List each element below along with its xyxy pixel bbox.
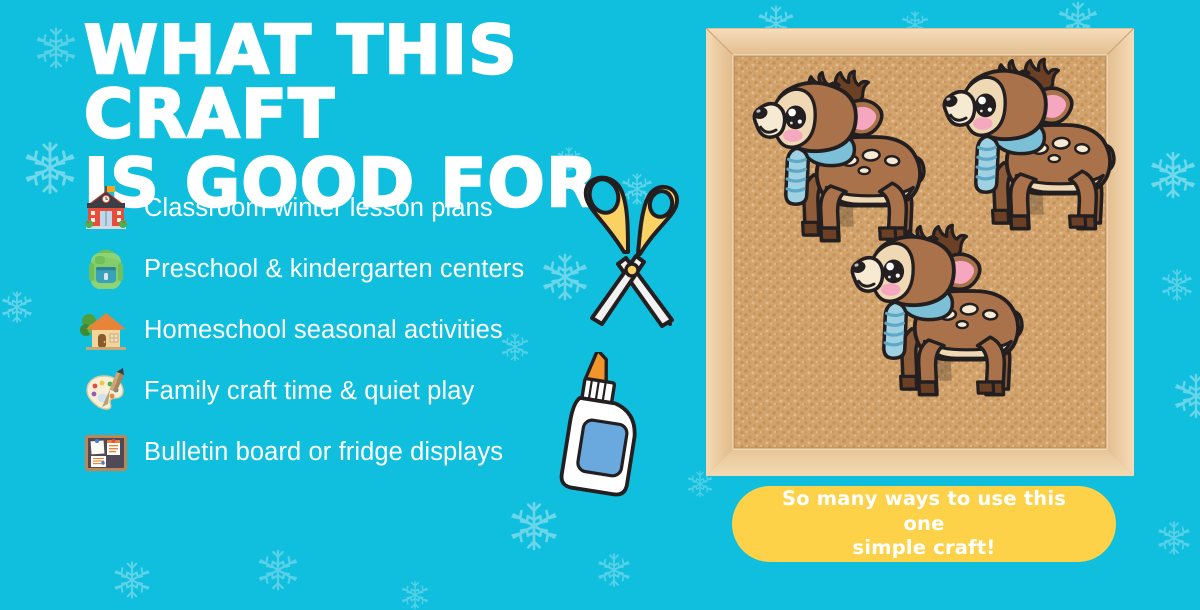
benefits-list: Classroom winter lesson plans Preschool …: [80, 182, 580, 487]
snowflake-icon: [596, 552, 632, 588]
list-item: Classroom winter lesson plans: [80, 182, 580, 234]
snowflake-icon: [0, 290, 34, 324]
bulletin-board-icon: [80, 426, 132, 478]
snowflake-icon: [112, 560, 152, 600]
snowflake-icon: [22, 140, 78, 196]
list-item-label: Family craft time & quiet play: [144, 376, 474, 406]
caption-text: So many ways to use this one simple craf…: [732, 487, 1116, 562]
page-title-line-1: WHAT THIS CRAFT: [84, 18, 724, 147]
scissors-icon: [566, 166, 698, 331]
poster-canvas: WHAT THIS CRAFT IS GOOD FOR: [0, 0, 1200, 600]
house-with-garden-icon: [80, 304, 132, 356]
caption-line-2: simple craft!: [853, 536, 996, 559]
snowflake-icon: [400, 580, 430, 610]
snowflake-icon: [34, 26, 78, 70]
snowflake-icon: [508, 500, 560, 552]
list-item: Family craft time & quiet play: [80, 365, 580, 417]
snowflake-icon: [1148, 150, 1198, 200]
list-item: Homeschool seasonal activities: [80, 304, 580, 356]
snowflake-icon: [1172, 372, 1200, 420]
caption-banner: So many ways to use this one simple craf…: [732, 486, 1116, 562]
list-item-label: Bulletin board or fridge displays: [144, 437, 503, 467]
artist-palette-icon: [80, 365, 132, 417]
backpack-icon: [80, 243, 132, 295]
list-item-label: Classroom winter lesson plans: [144, 193, 493, 223]
snowflake-icon: [1156, 520, 1192, 556]
glue-bottle-icon: [556, 352, 678, 500]
list-item-label: Homeschool seasonal activities: [144, 315, 503, 345]
cork-board-icon: [706, 28, 1134, 476]
caption-line-1: So many ways to use this one: [782, 487, 1066, 535]
snowflake-icon: [256, 548, 300, 592]
list-item: Preschool & kindergarten centers: [80, 243, 580, 295]
list-item-label: Preschool & kindergarten centers: [144, 254, 524, 284]
school-building-icon: [80, 182, 132, 234]
list-item: Bulletin board or fridge displays: [80, 426, 580, 478]
snowflake-icon: [1160, 268, 1194, 302]
